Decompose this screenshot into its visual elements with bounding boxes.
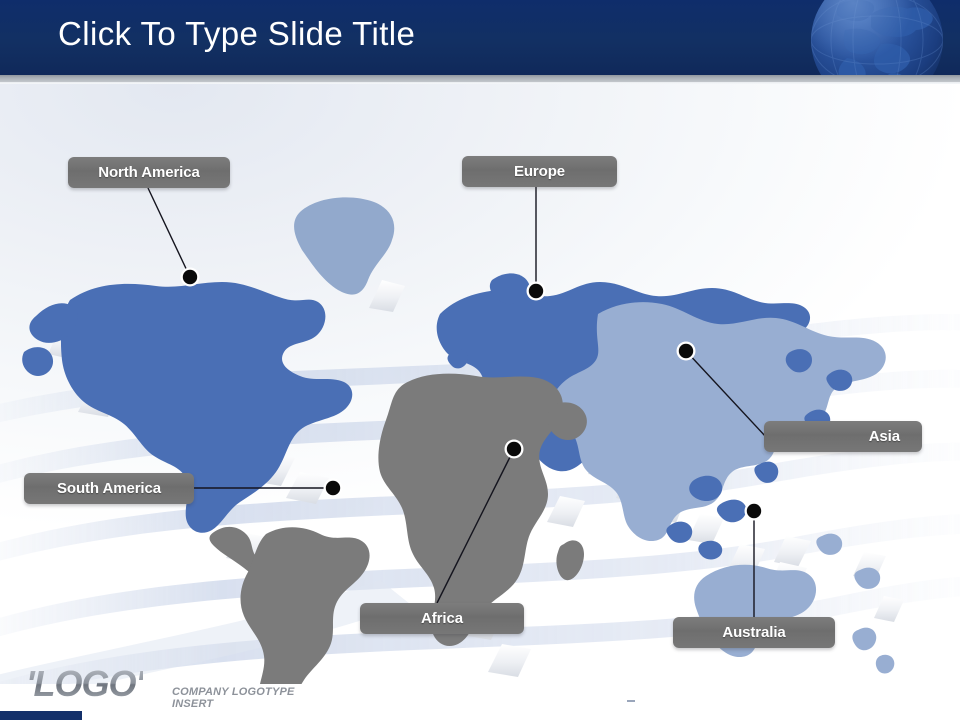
map-label-australia-text: Australia: [722, 624, 785, 641]
map-label-australia[interactable]: Australia: [673, 617, 835, 648]
logo-caption: COMPANY LOGOTYPE INSERT: [172, 686, 326, 710]
map-label-africa[interactable]: Africa: [360, 603, 524, 634]
map-label-europe[interactable]: Europe: [462, 156, 617, 187]
slide-canvas: Click To Type Slide Title: [0, 0, 960, 720]
map-label-south-america-text: South America: [57, 480, 161, 497]
region-greenland: [294, 197, 394, 294]
map-label-asia-text: Asia: [869, 428, 900, 445]
map-label-africa-text: Africa: [421, 610, 463, 627]
map-label-north-america-text: North America: [98, 164, 200, 181]
map-label-south-america[interactable]: South America: [24, 473, 194, 504]
footer-accent-bar: [0, 711, 82, 720]
map-label-asia[interactable]: Asia: [764, 421, 922, 452]
logo-mark: 'LOGO': [26, 664, 143, 704]
header-divider: [0, 75, 960, 82]
map-label-north-america[interactable]: North America: [68, 157, 230, 188]
footer-logo[interactable]: 'LOGO' COMPANY LOGOTYPE INSERT: [26, 664, 326, 708]
globe-icon: [785, 0, 960, 75]
footer-tick-mark: [627, 700, 635, 702]
page-title: Click To Type Slide Title: [58, 15, 415, 53]
map-label-europe-text: Europe: [514, 163, 565, 180]
slide-header: Click To Type Slide Title: [0, 0, 960, 75]
